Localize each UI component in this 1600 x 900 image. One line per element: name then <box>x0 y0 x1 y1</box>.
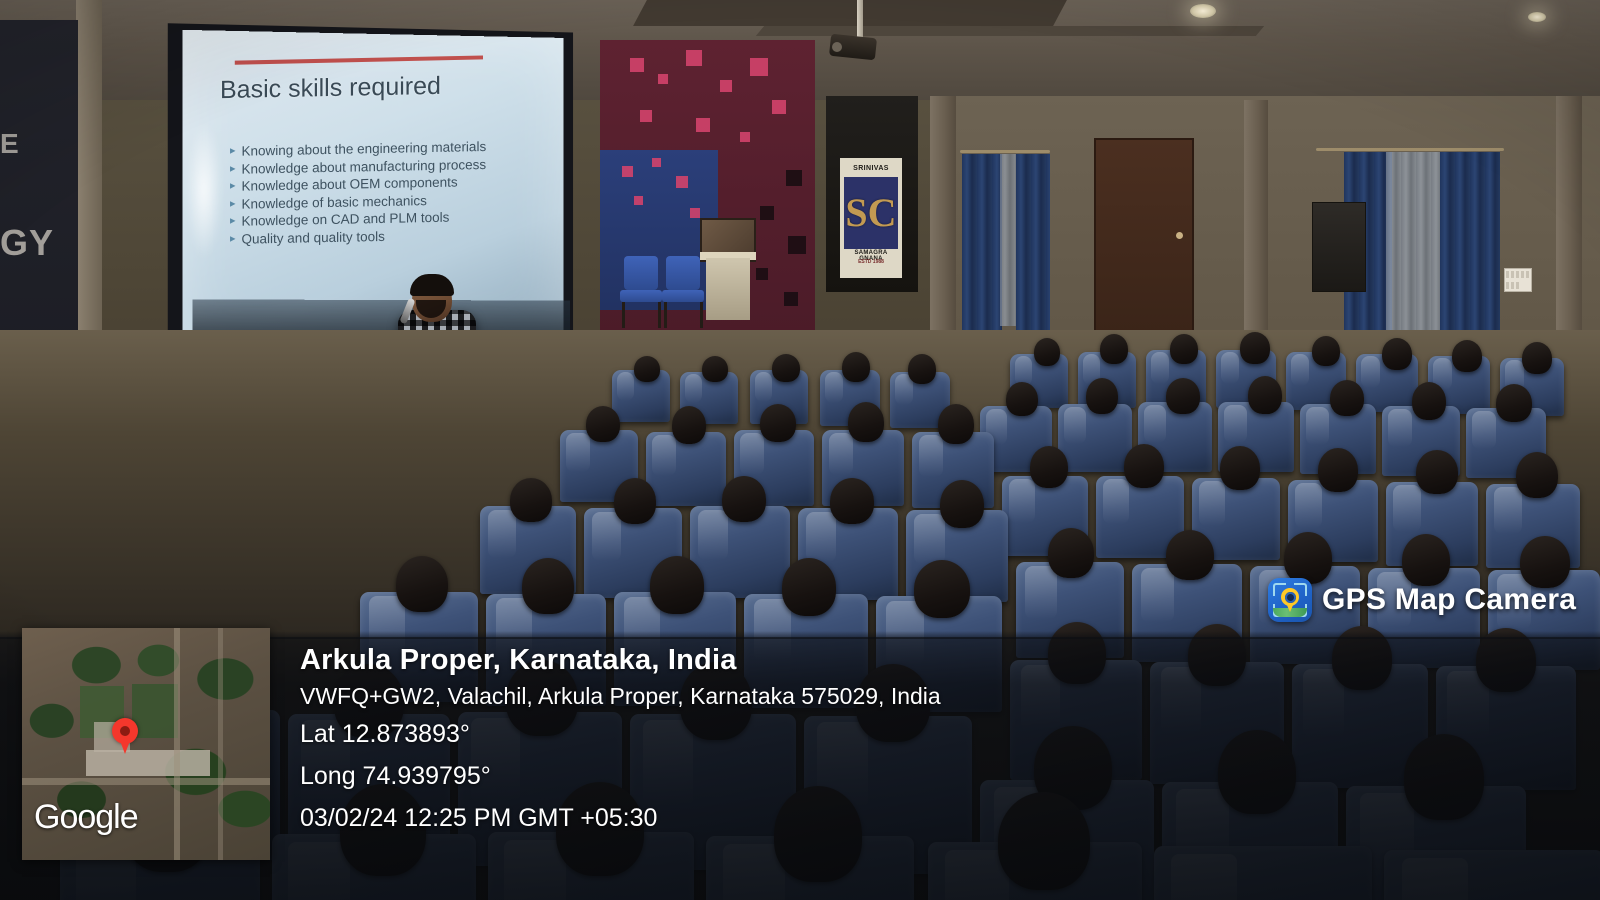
photo-screenshot: E GY Basic s <box>0 0 1600 900</box>
audience-person <box>522 558 574 614</box>
map-building <box>86 750 210 776</box>
curtain-rod <box>1316 148 1504 151</box>
map-road <box>22 778 270 785</box>
audience-person <box>848 402 884 442</box>
bullet-triangle-icon: ▸ <box>230 178 236 195</box>
audience-person <box>1170 334 1198 364</box>
slide-title: Basic skills required <box>220 72 441 105</box>
audience-person <box>722 476 766 522</box>
institution-monogram: SC <box>845 191 896 235</box>
window-curtain <box>1016 154 1050 330</box>
audience-person <box>1412 382 1446 420</box>
institution-established: ESTD 1988 <box>842 259 900 265</box>
projector-lens <box>832 42 842 52</box>
chair-leg <box>700 302 703 328</box>
audience-person <box>914 560 970 618</box>
stage-chair <box>666 256 700 290</box>
latitude-value: Lat 12.873893° <box>300 713 1560 755</box>
bullet-triangle-icon: ▸ <box>230 160 236 177</box>
audience-person <box>940 480 984 528</box>
audience-person <box>1330 380 1364 416</box>
audience-person <box>772 354 800 382</box>
audience-person <box>510 478 552 522</box>
audience-person <box>650 556 704 614</box>
map-pin-tail <box>1286 603 1294 612</box>
audience-person <box>702 356 728 382</box>
audience-person <box>1006 382 1038 416</box>
curtain-rod <box>960 150 1050 153</box>
slide-bullet-list: ▸ Knowing about the engineering material… <box>230 137 530 248</box>
wall-speaker <box>1312 202 1366 292</box>
audience-person <box>1452 340 1482 372</box>
gps-map-camera-icon <box>1268 578 1312 622</box>
audience-person <box>1166 530 1214 580</box>
stage-chair-seat <box>620 290 662 302</box>
audience-person <box>1382 338 1412 370</box>
audience-person <box>938 404 974 444</box>
wall-text-fragment: E <box>0 128 20 160</box>
audience-person <box>614 478 656 524</box>
map-field <box>132 684 178 738</box>
audience-person <box>1034 338 1060 366</box>
stage-chair <box>624 256 658 290</box>
projector-mount-pole <box>857 0 863 40</box>
window-curtain <box>1440 152 1500 344</box>
institution-name: SRINIVAS GROUP <box>842 162 900 176</box>
bullet-triangle-icon: ▸ <box>230 213 236 230</box>
podium <box>706 258 750 320</box>
audience-person <box>1284 532 1332 584</box>
audience-person <box>1522 342 1552 374</box>
audience-person <box>1048 528 1094 578</box>
audience-person <box>634 356 660 382</box>
audience-person <box>842 352 870 382</box>
audience-seat <box>1058 404 1132 472</box>
audience-person <box>1318 448 1358 492</box>
audience-person <box>672 406 706 444</box>
audience-person <box>586 406 620 442</box>
chair-leg <box>622 302 625 328</box>
window-curtain <box>1386 152 1444 348</box>
audience-person <box>830 478 874 524</box>
door-knob[interactable] <box>1176 232 1183 239</box>
audience-person <box>1086 378 1118 414</box>
ceiling-light <box>1528 12 1546 22</box>
audience-person <box>1220 446 1260 490</box>
audience-person <box>1240 332 1270 364</box>
audience-person <box>1496 384 1532 422</box>
location-title: Arkula Proper, Karnataka, India <box>300 642 1560 678</box>
audience-person <box>1516 452 1558 498</box>
audience-person <box>1030 446 1068 488</box>
institution-monogram-box: SC <box>844 177 898 249</box>
slide-bullet-text: Quality and quality tools <box>242 228 385 248</box>
auditorium-door[interactable] <box>1094 138 1194 342</box>
google-logo: Google <box>34 798 138 837</box>
screen-glare <box>186 120 222 260</box>
audience-person <box>1312 336 1340 366</box>
audience-person <box>1166 378 1200 414</box>
audience-person <box>396 556 448 612</box>
ceiling-beam <box>633 0 1067 26</box>
audience-person <box>908 354 936 384</box>
location-address: VWFQ+GW2, Valachil, Arkula Proper, Karna… <box>300 679 1560 713</box>
audience-person <box>1248 376 1282 414</box>
watermark: GPS Map Camera <box>1268 578 1576 622</box>
audience-person <box>1124 444 1164 488</box>
window-curtain <box>962 154 1002 330</box>
bullet-triangle-icon: ▸ <box>230 231 236 248</box>
audience-person <box>760 404 796 442</box>
chair-leg <box>658 302 661 328</box>
chair-leg <box>664 302 667 328</box>
audience-person <box>782 558 836 616</box>
bullet-triangle-icon: ▸ <box>230 196 236 213</box>
longitude-value: Long 74.939795° <box>300 755 1560 797</box>
timestamp-value: 03/02/24 12:25 PM GMT +05:30 <box>300 797 1560 839</box>
map-pin-tail <box>119 738 131 754</box>
gps-info-block: Arkula Proper, Karnataka, India VWFQ+GW2… <box>300 642 1560 839</box>
ceiling-light <box>1190 4 1216 18</box>
audience-person <box>1416 450 1458 494</box>
audience-person <box>1100 334 1128 364</box>
watermark-label: GPS Map Camera <box>1322 583 1576 617</box>
stage-chair-seat <box>662 290 704 302</box>
light-switch-plate[interactable] <box>1504 268 1532 292</box>
wall-text-fragment: GY <box>0 222 54 264</box>
map-road <box>218 628 223 860</box>
bullet-triangle-icon: ▸ <box>230 143 236 160</box>
map-road <box>174 628 180 860</box>
